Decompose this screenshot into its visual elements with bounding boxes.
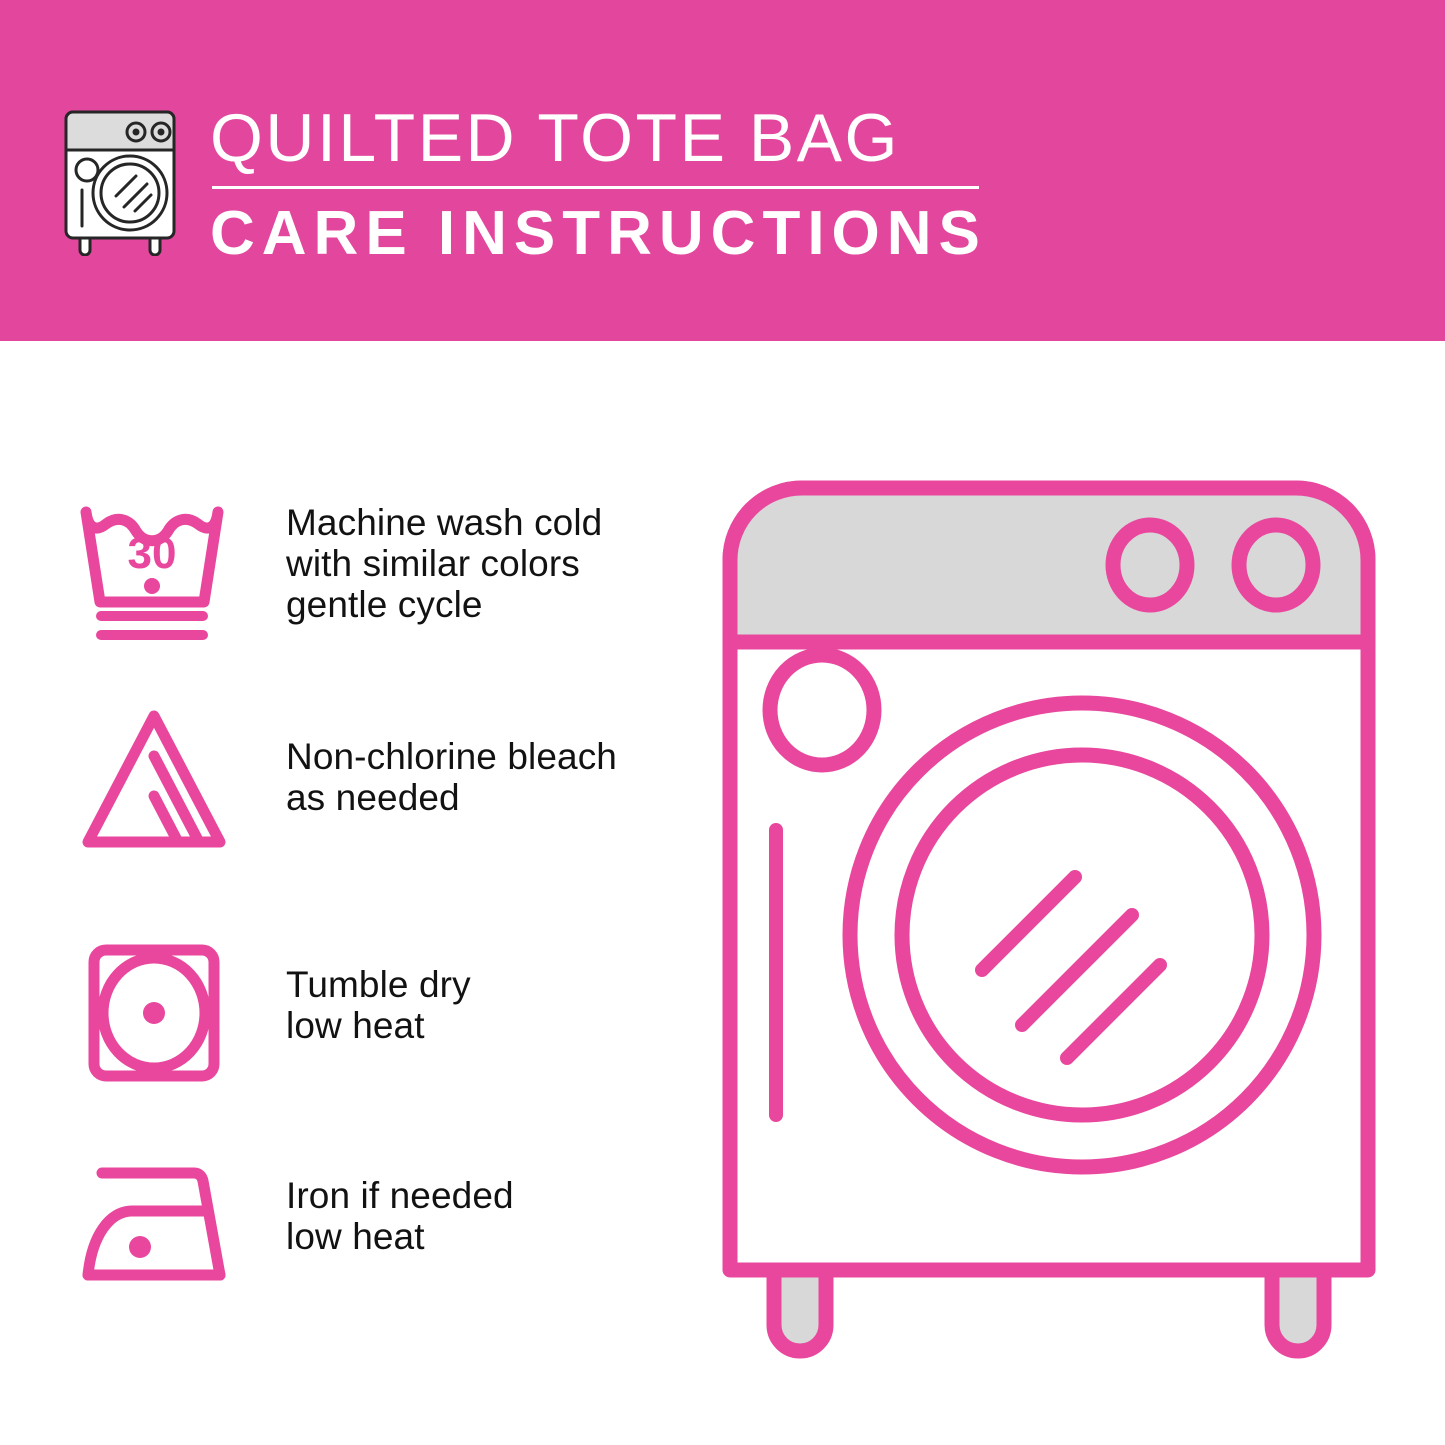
washing-machine-illustration [712, 470, 1412, 1370]
iron-low-heat-icon [66, 1149, 242, 1299]
tumble-dry-low-icon [66, 938, 242, 1088]
care-instruction-text: Iron if needed low heat [286, 1149, 514, 1257]
wash-temp-value: 30 [128, 529, 177, 578]
header-banner: QUILTED TOTE BAG CARE INSTRUCTIONS [0, 0, 1445, 341]
header-content: QUILTED TOTE BAG CARE INSTRUCTIONS [58, 100, 987, 267]
page-subtitle: CARE INSTRUCTIONS [210, 201, 987, 267]
care-instruction-item: Iron if needed low heat [66, 1149, 686, 1299]
machine-wash-30-gentle-icon: 30 [66, 498, 242, 648]
care-instruction-text: Tumble dry low heat [286, 938, 471, 1046]
care-instruction-item: 30 Machine wash cold with similar colors… [66, 498, 686, 648]
page-title: QUILTED TOTE BAG [210, 100, 987, 176]
care-instruction-item: Tumble dry low heat [66, 938, 686, 1088]
header-titles: QUILTED TOTE BAG CARE INSTRUCTIONS [210, 100, 987, 267]
care-instruction-text: Non-chlorine bleach as needed [286, 704, 617, 818]
care-instruction-text: Machine wash cold with similar colors ge… [286, 498, 602, 625]
washing-machine-icon [58, 104, 186, 256]
non-chlorine-bleach-icon [66, 704, 242, 854]
care-instruction-item: Non-chlorine bleach as needed [66, 704, 686, 854]
care-instruction-list: 30 Machine wash cold with similar colors… [0, 341, 700, 1445]
title-divider [212, 186, 979, 189]
